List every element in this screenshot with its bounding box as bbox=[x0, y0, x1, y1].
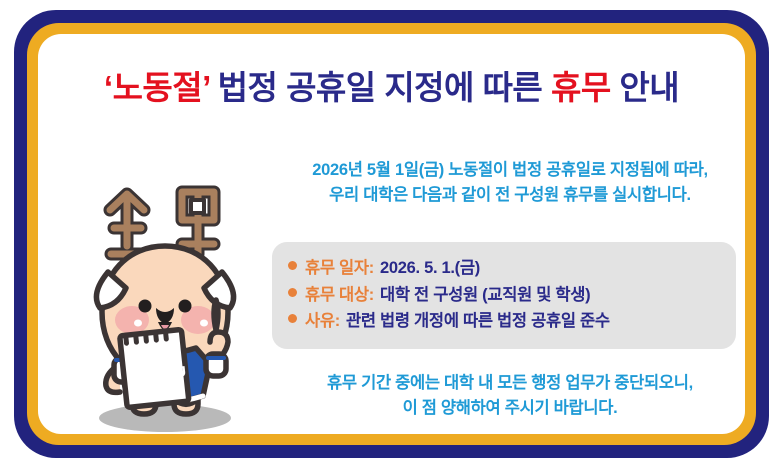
intro-paragraph: 2026년 5월 1일(금) 노동절이 법정 공휴일로 지정됨에 따라, 우리 … bbox=[260, 158, 745, 208]
intro-line-2: 우리 대학은 다음과 같이 전 구성원 휴무를 실시합니다. bbox=[260, 183, 745, 208]
detail-value-target: 대학 전 구성원 (교직원 및 학생) bbox=[380, 282, 590, 309]
list-item: 휴무 대상: 대학 전 구성원 (교직원 및 학생) bbox=[288, 282, 720, 309]
detail-label-target: 휴무 대상: bbox=[305, 282, 374, 309]
mascot-illustration: SMU bbox=[70, 142, 260, 434]
list-item: 사유: 관련 법령 개정에 따른 법정 공휴일 준수 bbox=[288, 308, 720, 335]
bullet-dot-icon bbox=[288, 314, 297, 323]
poster-frame: ‘노동절’ 법정 공휴일 지정에 따른 휴무 안내 2026년 5월 1일(금)… bbox=[14, 10, 769, 458]
outro-line-1: 휴무 기간 중에는 대학 내 모든 행정 업무가 중단되오니, bbox=[260, 371, 745, 396]
bullet-dot-icon bbox=[288, 288, 297, 297]
mascot-deer-icon: SMU bbox=[70, 142, 260, 434]
mascot-shirt-text: SMU bbox=[152, 363, 187, 383]
detail-label-date: 휴무 일자: bbox=[305, 255, 374, 282]
detail-label-reason: 사유: bbox=[305, 308, 340, 335]
title-segment-highlight-1: ‘노동절’ bbox=[104, 69, 210, 106]
detail-value-date: 2026. 5. 1.(금) bbox=[380, 255, 480, 282]
outro-paragraph: 휴무 기간 중에는 대학 내 모든 행정 업무가 중단되오니, 이 점 양해하여… bbox=[260, 371, 745, 421]
intro-line-1: 2026년 5월 1일(금) 노동절이 법정 공휴일로 지정됨에 따라, bbox=[260, 158, 745, 183]
title-segment-base-2: 안내 bbox=[611, 69, 679, 106]
title-segment-base-1: 법정 공휴일 지정에 따른 bbox=[210, 69, 551, 106]
page-title: ‘노동절’ 법정 공휴일 지정에 따른 휴무 안내 bbox=[38, 71, 745, 104]
list-item: 휴무 일자: 2026. 5. 1.(금) bbox=[288, 255, 720, 282]
detail-value-reason: 관련 법령 개정에 따른 법정 공휴일 준수 bbox=[346, 308, 610, 335]
bullet-dot-icon bbox=[288, 261, 297, 270]
details-panel: 휴무 일자: 2026. 5. 1.(금) 휴무 대상: 대학 전 구성원 (교… bbox=[272, 242, 736, 349]
poster-content: ‘노동절’ 법정 공휴일 지정에 따른 휴무 안내 2026년 5월 1일(금)… bbox=[38, 34, 745, 434]
outro-line-2: 이 점 양해하여 주시기 바랍니다. bbox=[260, 396, 745, 421]
poster-gold-border: ‘노동절’ 법정 공휴일 지정에 따른 휴무 안내 2026년 5월 1일(금)… bbox=[27, 23, 756, 445]
title-segment-highlight-2: 휴무 bbox=[551, 69, 611, 106]
